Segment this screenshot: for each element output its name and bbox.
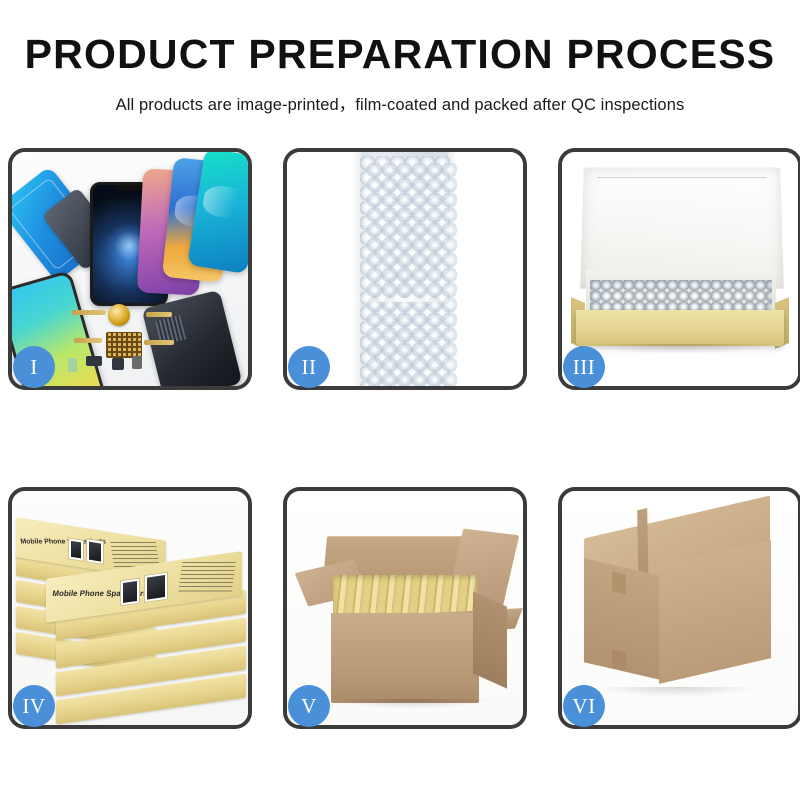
header: PRODUCT PREPARATION PROCESS All products…	[0, 0, 800, 115]
box-drop-shadow	[584, 344, 776, 354]
process-step-5: V	[283, 487, 527, 729]
bubble-wrap-seam	[353, 298, 457, 302]
process-step-4: Mobile Phone Spare Parts Mobile Phone Sp…	[8, 487, 252, 729]
step-6-numeral: VI	[572, 696, 595, 717]
page-title: PRODUCT PREPARATION PROCESS	[0, 34, 800, 75]
step-4-badge: IV	[13, 685, 55, 727]
sealed-carton-right-panel	[659, 540, 771, 684]
sim-tray-icon	[68, 358, 77, 372]
box-screen-thumb-b2	[86, 538, 104, 565]
step-5-numeral: V	[301, 696, 317, 717]
process-step-6: VI	[558, 487, 800, 729]
step-3-numeral: III	[573, 357, 595, 378]
speaker-component-icon	[108, 304, 130, 326]
flex-cable-icon-3	[74, 338, 102, 343]
sealed-carton-tape-tab-top	[612, 571, 626, 594]
sealed-carton-tape-tab-bottom	[612, 649, 626, 670]
sealed-carton-drop-shadow	[596, 687, 756, 697]
flex-cable-icon-4	[144, 340, 174, 345]
process-step-1: I	[8, 148, 252, 390]
box-stack-icon: Mobile Phone Spare Parts Mobile Phone Sp…	[16, 507, 248, 719]
box-screen-thumb-f1	[120, 578, 140, 607]
small-part-icon-3	[132, 356, 142, 369]
box-screen-thumb-b1	[68, 537, 84, 562]
step-1-badge: I	[13, 346, 55, 388]
bubble-wrapped-contents-icon	[590, 280, 772, 314]
step-2-numeral: II	[302, 357, 317, 378]
carton-front-panel	[331, 613, 479, 703]
phone-back-housing-icon	[142, 290, 243, 386]
process-step-grid: I II	[8, 148, 792, 729]
step-3-badge: III	[563, 346, 605, 388]
product-preparation-infographic: PRODUCT PREPARATION PROCESS All products…	[0, 0, 800, 800]
step-6-badge: VI	[563, 685, 605, 727]
bubble-pattern-secondary	[367, 163, 457, 386]
flex-cable-icon-2	[146, 312, 172, 317]
page-subtitle: All products are image-printed，film-coat…	[0, 91, 800, 115]
small-part-icon-2	[112, 358, 124, 370]
box-front-panel	[576, 310, 784, 346]
step-1-numeral: I	[30, 357, 38, 378]
step-4-numeral: IV	[22, 696, 45, 717]
flex-cable-icon-1	[72, 310, 106, 315]
chip-grid-component-icon	[106, 332, 142, 358]
small-part-icon-1	[86, 356, 102, 366]
box-screen-thumb-f2	[144, 572, 168, 603]
carton-right-panel	[473, 591, 507, 688]
step-5-badge: V	[288, 685, 330, 727]
process-step-2: II	[283, 148, 527, 390]
box-spec-lines-front	[178, 562, 236, 592]
bubble-wrap-bag-icon	[353, 152, 457, 386]
step-2-badge: II	[288, 346, 330, 388]
process-step-3: III	[558, 148, 800, 390]
carton-drop-shadow	[333, 699, 491, 709]
